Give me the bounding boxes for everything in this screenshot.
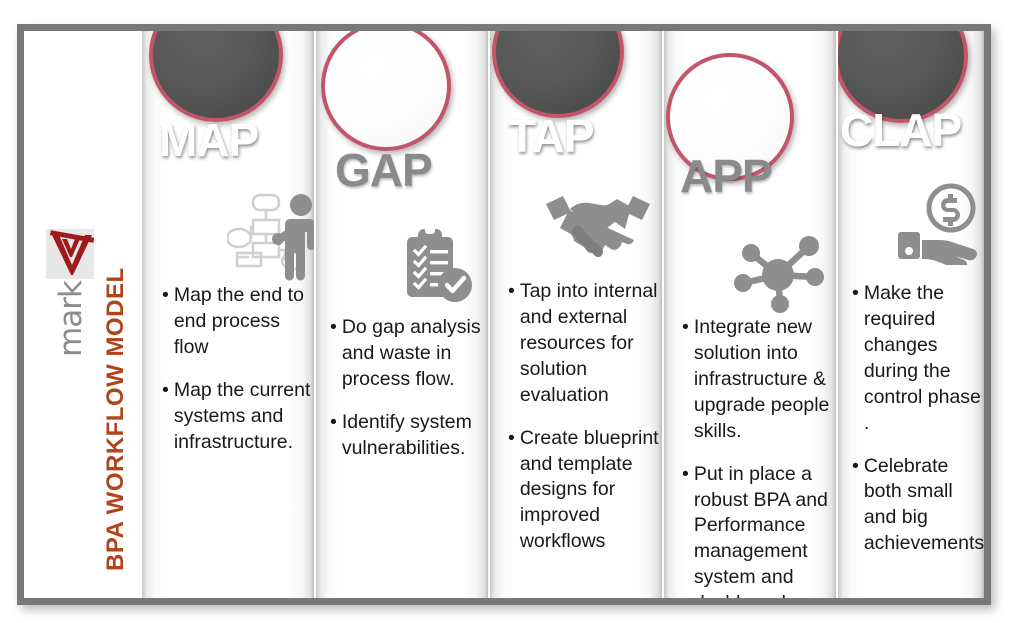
bullet-list-app: • Integrate new solution into infrastruc… <box>682 315 834 598</box>
bullet-text: Create blueprint and template designs fo… <box>520 426 662 556</box>
list-item: • Do gap analysis and waste in process f… <box>330 315 482 393</box>
list-item: • Create blueprint and template designs … <box>508 426 662 556</box>
hand-with-coin-icon <box>896 183 984 265</box>
bullet-text: Map the current systems and infrastructu… <box>174 378 312 456</box>
step-label-tap: TAP <box>508 109 594 163</box>
handshake-icon <box>540 191 656 257</box>
step-label-app: APP <box>680 149 772 203</box>
bullet-dot: • <box>508 279 515 409</box>
bullet-list-tap: • Tap into internal and external resourc… <box>508 279 662 572</box>
bullet-dot: • <box>852 454 859 558</box>
step-circle-gap <box>321 31 451 151</box>
list-item: • Integrate new solution into infrastruc… <box>682 315 834 445</box>
step-panel-gap[interactable]: GAP <box>316 31 488 598</box>
bullet-text: Do gap analysis and waste in process flo… <box>342 315 482 393</box>
network-hub-icon <box>730 231 826 315</box>
bullet-dot: • <box>162 283 169 361</box>
bullet-dot: • <box>852 281 859 437</box>
red-arrow-a-logo-icon <box>46 229 94 279</box>
page-title: BPA WORKFLOW MODEL <box>102 31 136 571</box>
bullet-text: Make the required changes during the con… <box>864 281 984 437</box>
bullet-dot: • <box>508 426 515 556</box>
step-label-map: MAP <box>159 113 258 167</box>
step-label-gap: GAP <box>335 143 432 197</box>
bullet-text: Tap into internal and external resources… <box>520 279 662 409</box>
bullet-text: Celebrate both small and big achievement… <box>864 454 984 558</box>
bullet-dot: • <box>330 410 337 462</box>
bullet-dot: • <box>682 462 689 598</box>
infographic-canvas: mark BPA WORKFLOW MODEL MAP <box>0 0 1024 623</box>
list-item: • Map the current systems and infrastruc… <box>162 378 312 456</box>
clipboard-checklist-icon <box>398 223 474 305</box>
step-panel-tap[interactable]: TAP • <box>490 31 662 598</box>
step-circle-map <box>149 31 283 122</box>
bullet-text: Put in place a robust BPA and Performanc… <box>694 462 834 598</box>
step-circle-tap <box>492 31 624 118</box>
diagram-frame: mark BPA WORKFLOW MODEL MAP <box>17 24 991 605</box>
bullet-dot: • <box>682 315 689 445</box>
list-item: • Identify system vulnerabilities. <box>330 410 482 462</box>
bullet-list-clap: • Make the required changes during the c… <box>852 281 984 574</box>
step-panel-app[interactable]: APP <box>664 31 836 598</box>
step-panel-map[interactable]: MAP <box>142 31 314 598</box>
bullet-dot: • <box>330 315 337 393</box>
list-item: • Map the end to end process flow <box>162 283 312 361</box>
brand-logo: mark <box>30 229 110 409</box>
step-panel-clap[interactable]: CLAP • <box>838 31 984 598</box>
bullet-dot: • <box>162 378 169 456</box>
bullet-text: Map the end to end process flow <box>174 283 312 361</box>
bullet-text: Integrate new solution into infrastructu… <box>694 315 834 445</box>
person-flowchart-icon <box>227 191 314 281</box>
brand-logo-word: mark <box>53 281 89 357</box>
list-item: • Make the required changes during the c… <box>852 281 984 437</box>
title-panel: mark BPA WORKFLOW MODEL <box>24 31 142 598</box>
list-item: • Put in place a robust BPA and Performa… <box>682 462 834 598</box>
list-item: • Celebrate both small and big achieveme… <box>852 454 984 558</box>
list-item: • Tap into internal and external resourc… <box>508 279 662 409</box>
step-label-clap: CLAP <box>840 103 961 157</box>
bullet-list-map: • Map the end to end process flow • Map … <box>162 283 312 473</box>
bullet-list-gap: • Do gap analysis and waste in process f… <box>330 315 482 479</box>
bullet-text: Identify system vulnerabilities. <box>342 410 482 462</box>
